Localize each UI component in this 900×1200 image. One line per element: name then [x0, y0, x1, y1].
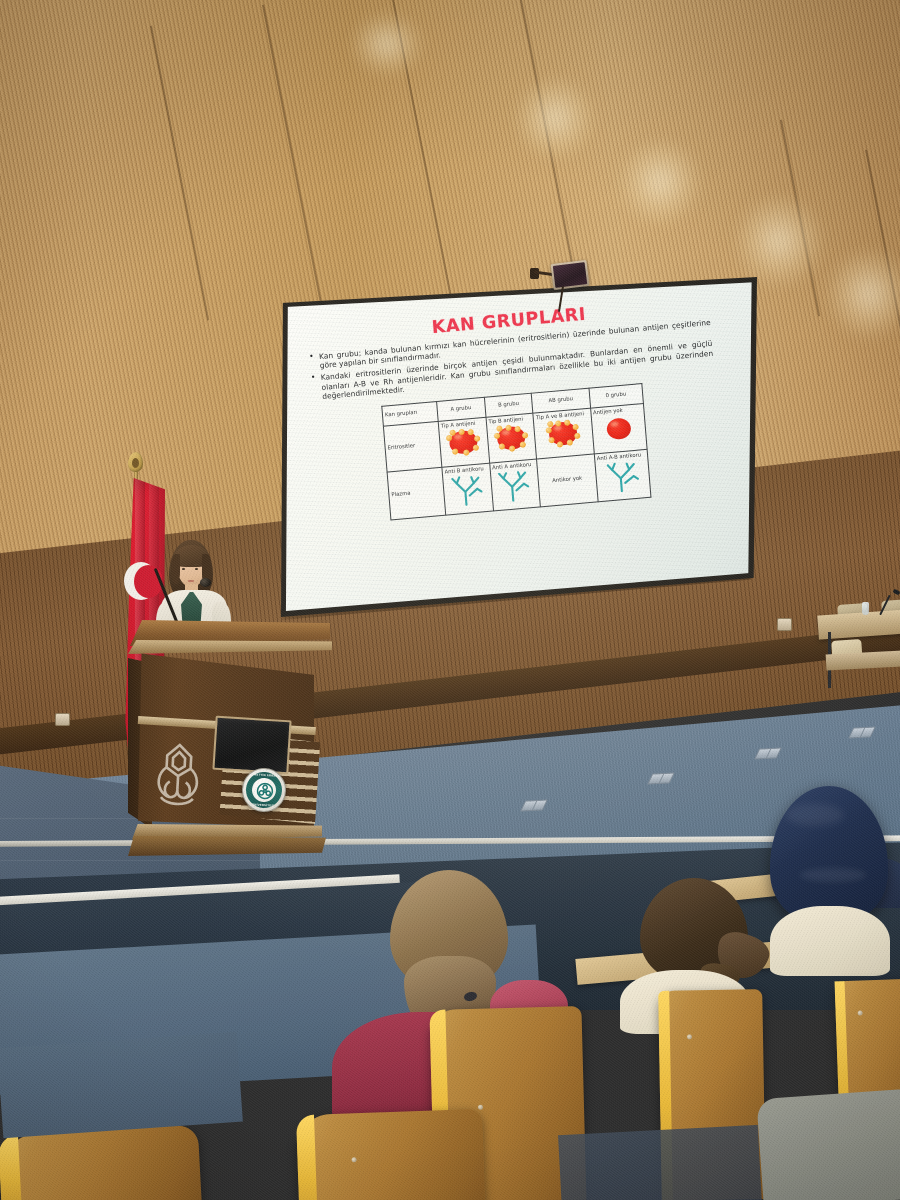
water-bottle[interactable]	[862, 602, 869, 615]
audience-aisle-floor	[0, 1032, 243, 1139]
audience-area	[0, 880, 900, 1200]
monitor-glass	[553, 262, 587, 288]
university-seal: NECMETTİN ERBAKAN ÜNİVERSİTESİ	[241, 767, 287, 813]
wall-light-glow	[736, 196, 822, 286]
red-blood-cell-icon	[493, 423, 529, 453]
wall-monitor[interactable]	[551, 260, 590, 290]
wall-light-glow	[620, 140, 700, 224]
cell-caption: Antikor yok	[552, 476, 582, 485]
antibody-icon	[497, 470, 533, 503]
cell-plasma-b: Anti A antikoru	[489, 459, 540, 511]
podium-base	[128, 836, 326, 856]
podium-microphone-head	[200, 578, 211, 587]
antibody-icon	[604, 461, 640, 494]
wall-light-glow	[516, 78, 594, 158]
row-label-plasma: Plazma	[387, 467, 445, 520]
cell-erythrocyte-b: Tip B antijeni	[486, 413, 537, 463]
red-blood-cell-icon	[546, 419, 582, 449]
wall-light-glow	[352, 14, 422, 74]
podium-confidence-monitor[interactable]	[212, 716, 291, 775]
projection-screen[interactable]: KAN GRUPLARI Kan grubu; kanda bulunan kı…	[285, 281, 753, 613]
red-blood-cell-plain-icon	[601, 414, 637, 444]
lectern-podium: NECMETTİN ERBAKAN ÜNİVERSİTESİ	[128, 620, 334, 870]
blood-group-table: Kan grupları A grubu B grubu AB grubu 0 …	[381, 383, 651, 520]
auditorium-seat[interactable]	[296, 1109, 486, 1200]
audience-seat-shadow	[558, 1125, 762, 1200]
presenter-mouth	[188, 580, 194, 582]
red-blood-cell-icon	[446, 428, 482, 458]
presenter-hair-left	[171, 554, 180, 584]
cell-plasma-o: Anti A-B antikoru	[594, 449, 651, 502]
wall-outlet[interactable]	[777, 618, 792, 631]
attendee-knee-blanket	[756, 1089, 900, 1200]
row-label-erythrocytes: Eritrositler	[383, 421, 441, 472]
wall-outlet[interactable]	[55, 713, 70, 726]
cell-erythrocyte-a: Tip A antijeni	[438, 417, 489, 467]
cell-plasma-ab: Antikor yok	[537, 454, 598, 507]
cell-erythrocyte-ab: Tip A ve B antijeni	[533, 408, 594, 459]
antibody-icon	[449, 474, 485, 507]
seal-motif-icon	[256, 782, 273, 799]
cell-plasma-a: Anti B antikoru	[442, 463, 493, 515]
auditorium-scene: KAN GRUPLARI Kan grubu; kanda bulunan kı…	[0, 0, 900, 1200]
presentation-slide: KAN GRUPLARI Kan grubu; kanda bulunan kı…	[285, 281, 753, 613]
wall-light-glow	[828, 250, 900, 338]
blood-group-table-wrap: Kan grupları A grubu B grubu AB grubu 0 …	[381, 383, 651, 520]
flag-finial-icon	[128, 452, 143, 472]
cell-erythrocyte-o: Antijen yok	[590, 403, 647, 454]
attendee-hijab-shoulder	[770, 906, 890, 976]
podium-lip	[128, 640, 332, 654]
podium-ornament-motif-icon	[148, 740, 208, 815]
